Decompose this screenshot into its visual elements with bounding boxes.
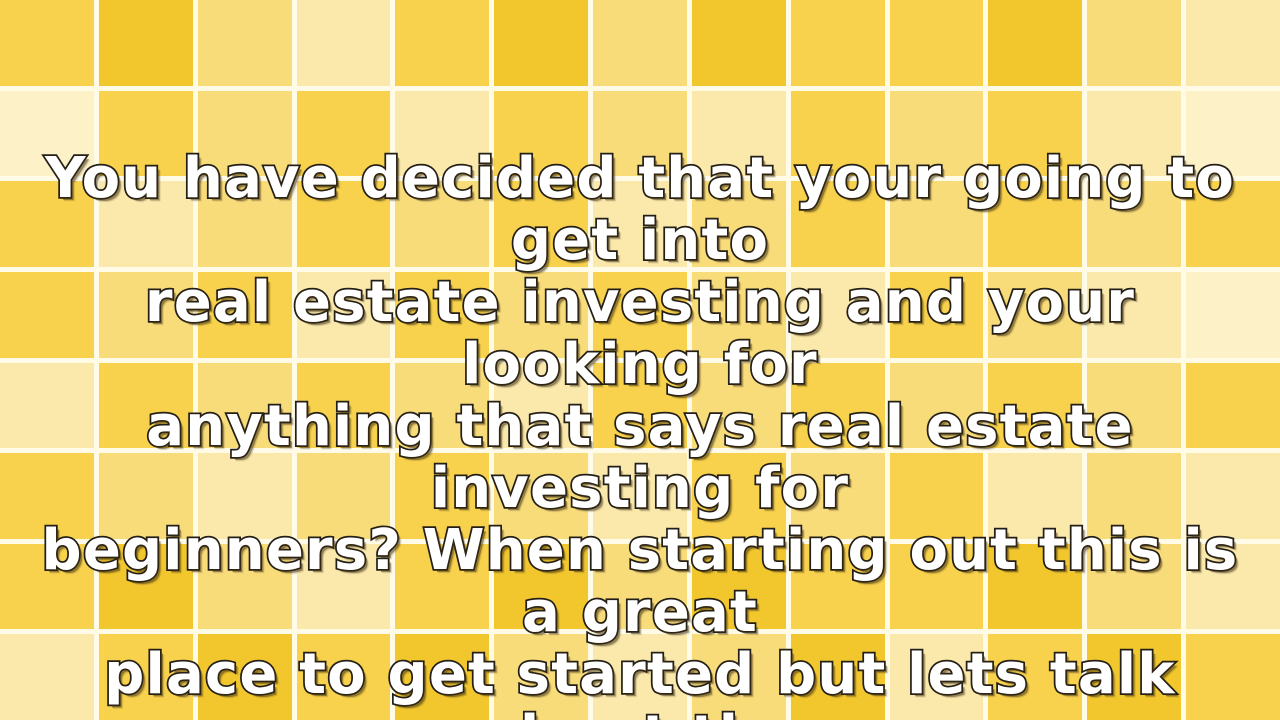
background-tile: [297, 453, 391, 539]
background-tile: [99, 634, 193, 720]
background-tile: [297, 634, 391, 720]
background-tile: [395, 91, 489, 177]
background-tile: [99, 272, 193, 358]
background-tile: [988, 272, 1082, 358]
background-tile: [890, 272, 984, 358]
background-tile: [494, 272, 588, 358]
background-tile: [99, 453, 193, 539]
background-tile: [791, 272, 885, 358]
background-tile: [988, 453, 1082, 539]
background-tile: [988, 634, 1082, 720]
background-tile: [494, 91, 588, 177]
background-tile: [99, 363, 193, 449]
background-tile: [593, 91, 687, 177]
background-tile: [297, 544, 391, 630]
background-tile: [494, 634, 588, 720]
background-tile: [99, 181, 193, 267]
background-tile: [1087, 453, 1181, 539]
background-tile: [395, 453, 489, 539]
background-tile: [791, 91, 885, 177]
background-tile: [1087, 0, 1181, 86]
background-tile: [988, 544, 1082, 630]
background-tile: [0, 0, 94, 86]
background-tile: [297, 181, 391, 267]
background-tile: [791, 0, 885, 86]
background-tile: [395, 272, 489, 358]
background-tile: [692, 363, 786, 449]
background-tile: [99, 91, 193, 177]
background-tile: [1186, 634, 1280, 720]
background-tile: [791, 634, 885, 720]
tiled-background: [0, 0, 1280, 720]
background-tile: [1186, 544, 1280, 630]
background-tile: [198, 634, 292, 720]
background-tile: [593, 453, 687, 539]
background-tile: [791, 181, 885, 267]
background-tile: [791, 363, 885, 449]
background-tile: [395, 363, 489, 449]
background-tile: [890, 453, 984, 539]
background-tile: [198, 0, 292, 86]
background-tile: [395, 544, 489, 630]
background-tile: [297, 91, 391, 177]
background-tile: [890, 634, 984, 720]
background-tile: [0, 272, 94, 358]
background-tile: [395, 0, 489, 86]
background-tile: [0, 634, 94, 720]
background-tile: [593, 634, 687, 720]
background-tile: [593, 363, 687, 449]
background-tile: [890, 91, 984, 177]
background-tile: [1186, 0, 1280, 86]
slide-canvas: You have decided that your going to get …: [0, 0, 1280, 720]
background-tile: [890, 544, 984, 630]
background-tile: [494, 363, 588, 449]
background-tile: [988, 181, 1082, 267]
background-tile: [1087, 634, 1181, 720]
background-tile: [198, 363, 292, 449]
background-tile: [494, 181, 588, 267]
background-tile: [494, 0, 588, 86]
background-tile: [494, 544, 588, 630]
background-tile: [1087, 91, 1181, 177]
background-tile: [395, 181, 489, 267]
background-tile: [0, 181, 94, 267]
background-tile: [0, 363, 94, 449]
background-tile: [198, 272, 292, 358]
background-tile: [1087, 544, 1181, 630]
background-tile: [1087, 181, 1181, 267]
background-tile: [198, 544, 292, 630]
background-tile: [99, 544, 193, 630]
background-tile: [988, 91, 1082, 177]
background-tile: [297, 272, 391, 358]
background-tile: [791, 544, 885, 630]
background-tile: [99, 0, 193, 86]
background-tile: [297, 363, 391, 449]
background-tile: [988, 0, 1082, 86]
background-tile: [1186, 181, 1280, 267]
background-tile: [395, 634, 489, 720]
background-tile: [1087, 363, 1181, 449]
background-tile: [198, 91, 292, 177]
background-tile: [890, 0, 984, 86]
background-tile: [692, 544, 786, 630]
background-tile: [692, 453, 786, 539]
background-tile: [593, 544, 687, 630]
background-tile: [890, 363, 984, 449]
background-tile: [0, 453, 94, 539]
background-tile: [494, 453, 588, 539]
background-tile: [791, 453, 885, 539]
background-tile: [692, 0, 786, 86]
background-tile: [988, 363, 1082, 449]
background-tile: [593, 272, 687, 358]
background-tile: [1186, 453, 1280, 539]
background-tile: [692, 91, 786, 177]
background-tile: [297, 0, 391, 86]
background-tile: [593, 0, 687, 86]
background-tile: [1087, 272, 1181, 358]
background-tile: [0, 91, 94, 177]
background-tile: [0, 544, 94, 630]
background-tile: [890, 181, 984, 267]
background-tile: [593, 181, 687, 267]
background-tile: [198, 453, 292, 539]
background-tile: [692, 181, 786, 267]
background-tile: [692, 634, 786, 720]
background-tile: [198, 181, 292, 267]
background-tile: [1186, 91, 1280, 177]
background-tile: [692, 272, 786, 358]
background-tile: [1186, 272, 1280, 358]
background-tile: [1186, 363, 1280, 449]
